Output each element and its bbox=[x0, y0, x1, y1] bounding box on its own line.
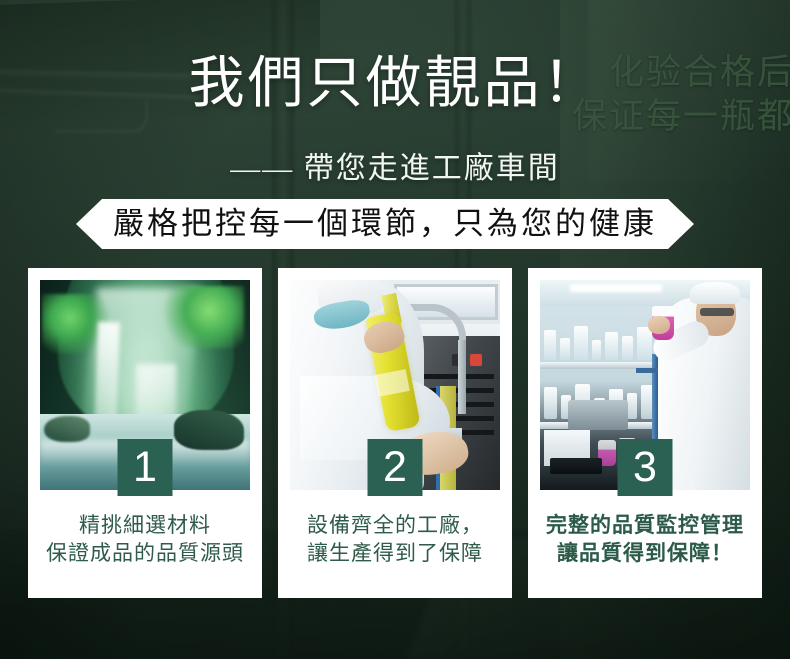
caption-line-2: 讓生產得到了保障 bbox=[278, 540, 512, 568]
feature-card-3[interactable]: 3 完整的品質監控管理 讓品質得到保障！ bbox=[528, 268, 762, 598]
caption-line-2: 保證成品的品質源頭 bbox=[28, 540, 262, 568]
feature-card-2-caption: 設備齊全的工廠， 讓生產得到了保障 bbox=[278, 512, 512, 567]
page-subtitle: —— 帶您走進工廠車間 bbox=[0, 143, 790, 187]
feature-card-1-caption: 精挑細選材料 保證成品的品質源頭 bbox=[28, 512, 262, 567]
feature-card-1[interactable]: 1 精挑細選材料 保證成品的品質源頭 bbox=[28, 268, 262, 598]
card-number-badge-2: 2 bbox=[368, 439, 423, 496]
promo-banner-page: 化验合格后 保证每一瓶都 我們只做靚品！ —— 帶您走進工廠車間 嚴格把控每一個… bbox=[0, 0, 790, 659]
card-number-badge-3: 3 bbox=[618, 439, 673, 496]
card-number-badge-1: 1 bbox=[118, 439, 173, 496]
caption-line-1: 精挑細選材料 bbox=[28, 512, 262, 540]
ribbon-banner-text: 嚴格把控每一個環節，只為您的健康 bbox=[113, 208, 657, 241]
caption-line-1: 完整的品質監控管理 bbox=[528, 512, 762, 540]
page-title: 我們只做靚品！ bbox=[0, 56, 790, 112]
feature-card-3-caption: 完整的品質監控管理 讓品質得到保障！ bbox=[528, 512, 762, 567]
caption-line-2: 讓品質得到保障！ bbox=[528, 540, 762, 568]
ribbon-banner: 嚴格把控每一個環節，只為您的健康 bbox=[76, 199, 694, 249]
caption-line-1: 設備齊全的工廠， bbox=[278, 512, 512, 540]
feature-card-list: 1 精挑細選材料 保證成品的品質源頭 bbox=[28, 268, 762, 598]
feature-card-2[interactable]: 2 設備齊全的工廠， 讓生產得到了保障 bbox=[278, 268, 512, 598]
